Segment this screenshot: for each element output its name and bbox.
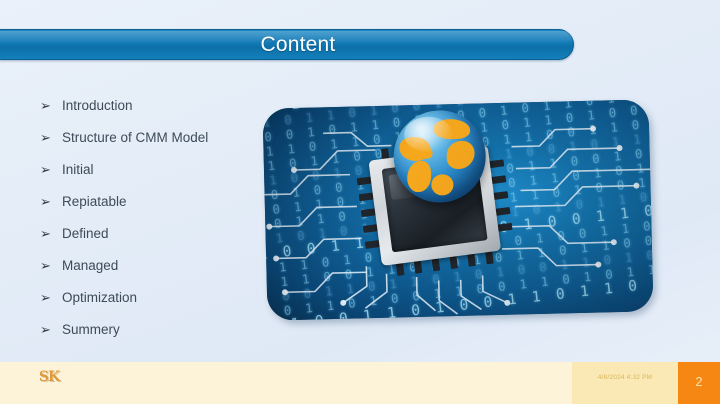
footer-date-band: [572, 362, 678, 404]
list-item-label: Summery: [62, 314, 120, 346]
sk-logo: SK: [36, 367, 62, 387]
list-item: ➢ Repiatable: [40, 186, 290, 218]
page-title: Content: [243, 31, 353, 58]
arrow-bullet-icon: ➢: [40, 218, 62, 250]
image-frame: 1 0 1 1 0 0 1 0 1 1 0 1 0 0 1 1 0 1 1 0 …: [262, 99, 653, 320]
list-item-label: Optimization: [62, 282, 137, 314]
list-item-label: Initial: [62, 154, 94, 186]
arrow-bullet-icon: ➢: [40, 154, 62, 186]
list-item-label: Structure of CMM Model: [62, 122, 208, 154]
page-number: 2: [678, 374, 720, 389]
arrow-bullet-icon: ➢: [40, 282, 62, 314]
list-item: ➢ Summery: [40, 314, 290, 346]
list-item-label: Introduction: [62, 90, 133, 122]
list-item: ➢ Introduction: [40, 90, 290, 122]
list-item: ➢ Initial: [40, 154, 290, 186]
arrow-bullet-icon: ➢: [40, 186, 62, 218]
list-item: ➢ Defined: [40, 218, 290, 250]
arrow-bullet-icon: ➢: [40, 250, 62, 282]
circuit-board-globe-image: 1 0 1 1 0 0 1 0 1 1 0 1 0 0 1 1 0 1 1 0 …: [262, 99, 653, 320]
list-item-label: Defined: [62, 218, 109, 250]
list-item-label: Repiatable: [62, 186, 127, 218]
arrow-bullet-icon: ➢: [40, 90, 62, 122]
list-item: ➢ Optimization: [40, 282, 290, 314]
list-item: ➢ Structure of CMM Model: [40, 122, 290, 154]
arrow-bullet-icon: ➢: [40, 314, 62, 346]
list-item-label: Managed: [62, 250, 118, 282]
arrow-bullet-icon: ➢: [40, 122, 62, 154]
list-item: ➢ Managed: [40, 250, 290, 282]
image-shading: [262, 99, 653, 320]
presentation-slide: Content ➢ Introduction ➢ Structure of CM…: [0, 0, 720, 404]
footer-timestamp: 4/8/2024 4:32 PM: [572, 374, 678, 381]
content-bullet-list: ➢ Introduction ➢ Structure of CMM Model …: [40, 90, 290, 346]
